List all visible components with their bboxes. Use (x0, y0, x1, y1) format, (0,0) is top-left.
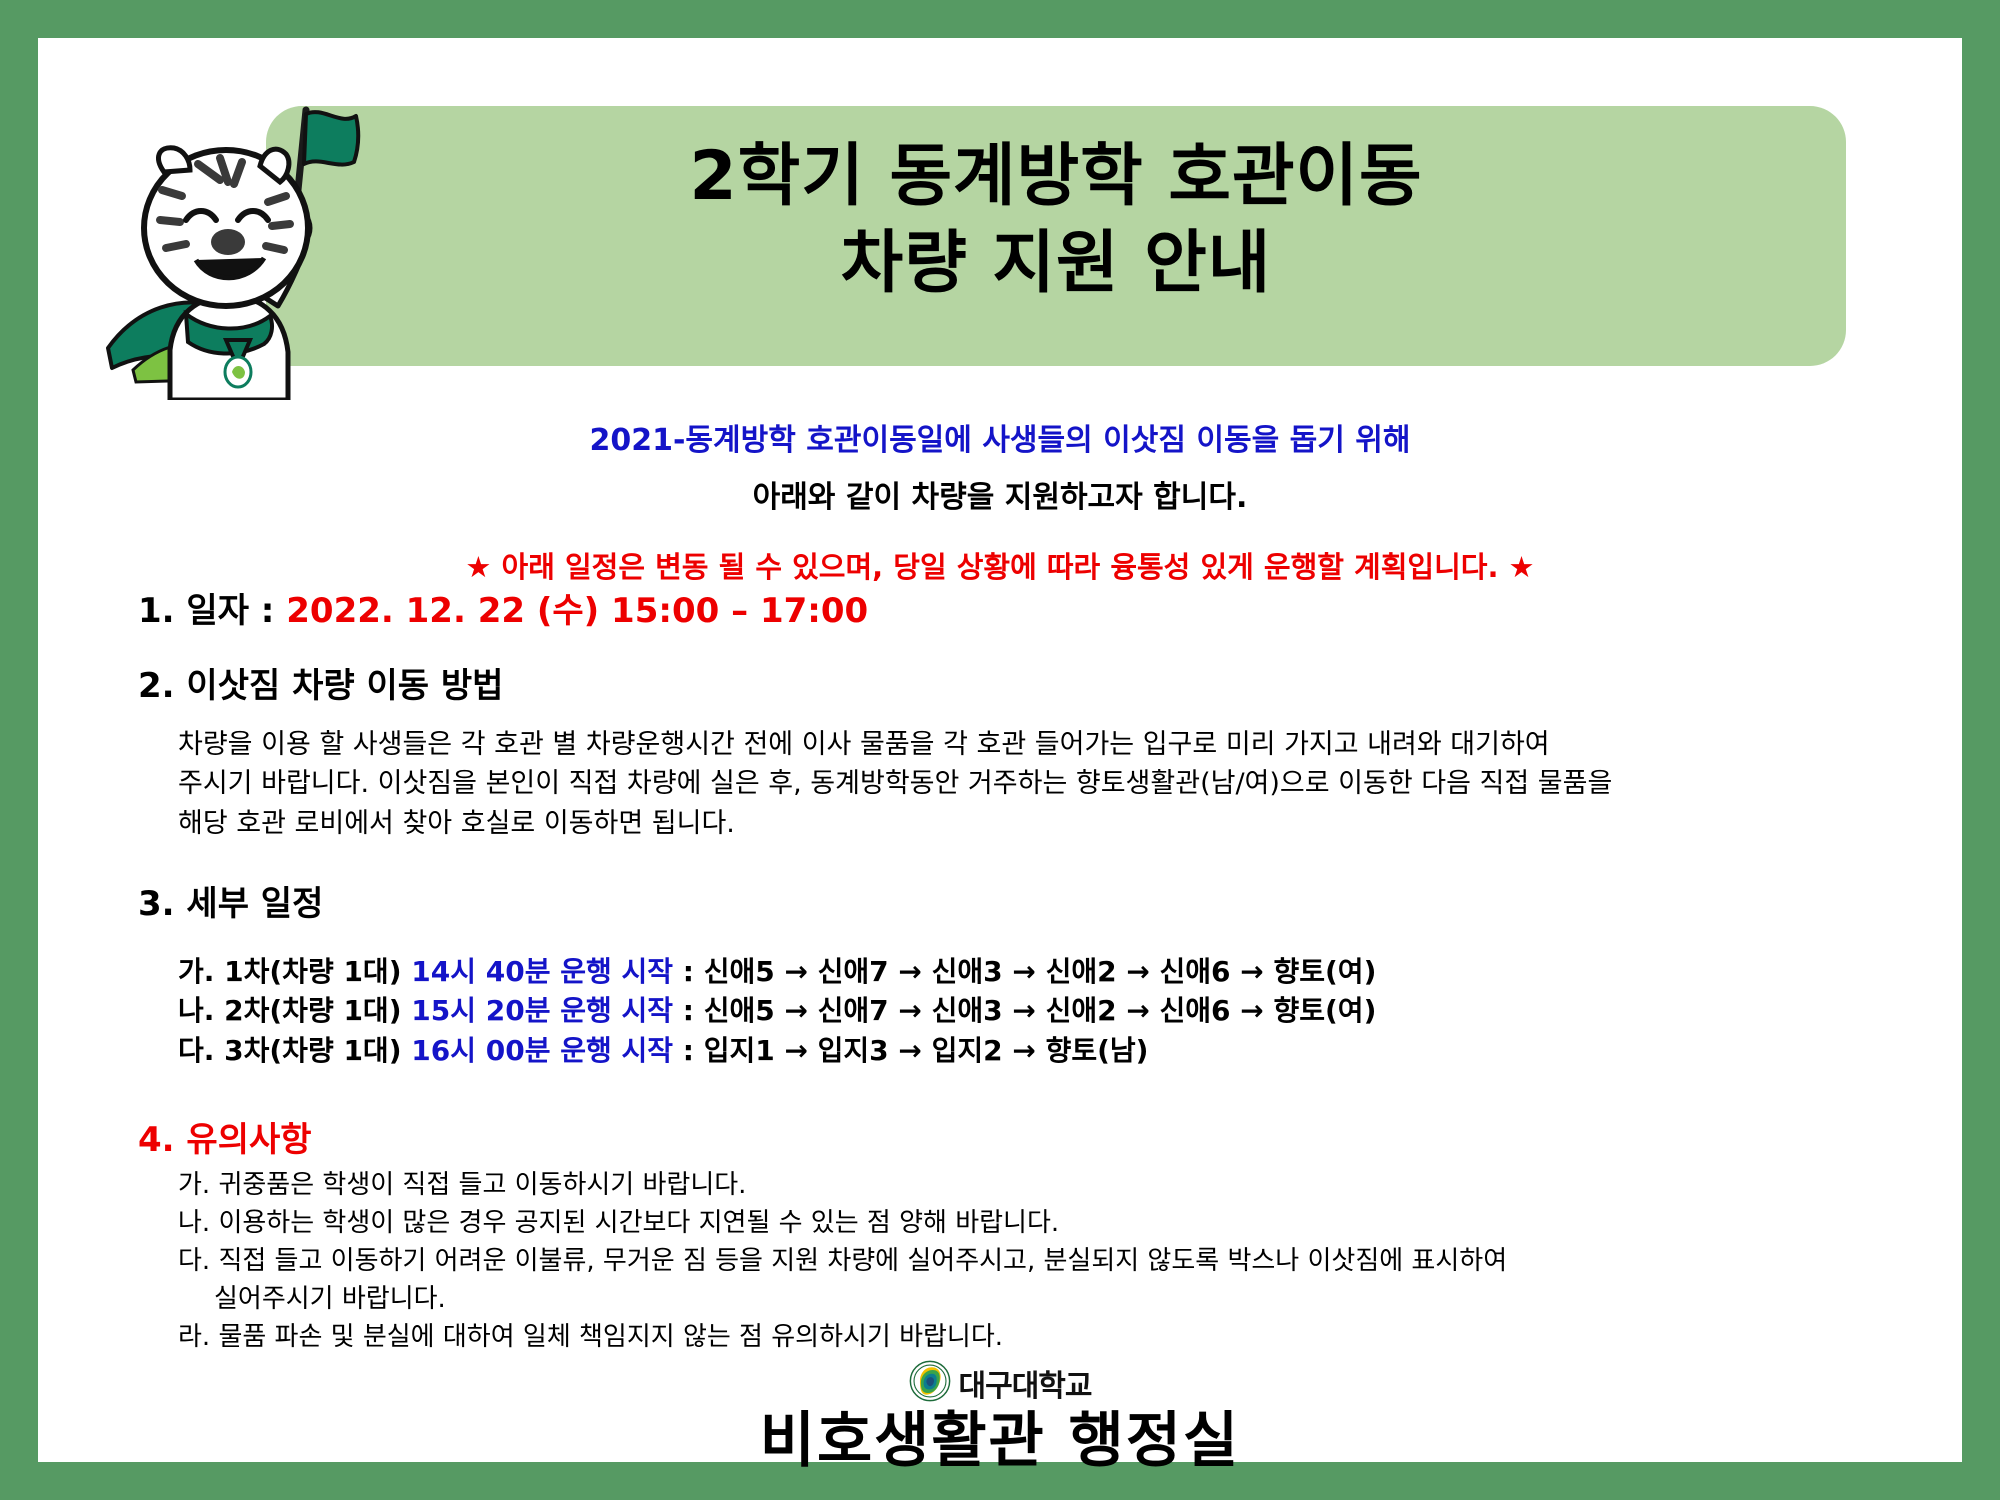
section-3-heading: 3. 세부 일정 (138, 883, 1928, 926)
schedule-row: 다. 3차(차량 1대) 16시 00분 운행 시작 : 입지1 → 입지3 →… (178, 1031, 1928, 1071)
schedule-time: 16시 00분 운행 시작 (411, 1034, 673, 1067)
intro-line-blue: 2021-동계방학 호관이동일에 사생들의 이삿짐 이동을 돕기 위해 (138, 418, 1862, 463)
notes-list: 가. 귀중품은 학생이 직접 들고 이동하시기 바랍니다. 나. 이용하는 학생… (178, 1167, 1928, 1357)
schedule-row: 나. 2차(차량 1대) 15시 20분 운행 시작 : 신애5 → 신애7 →… (178, 991, 1928, 1031)
schedule-route: : 입지1 → 입지3 → 입지2 → 향토(남) (673, 1034, 1148, 1067)
page-title: 2학기 동계방학 호관이동 차량 지원 안내 (266, 133, 1846, 307)
schedule-time: 15시 20분 운행 시작 (411, 994, 673, 1027)
note-item: 라. 물품 파손 및 분실에 대하여 일체 책임지지 않는 점 유의하시기 바랍… (178, 1319, 1928, 1357)
university-name: 대구대학교 (959, 1361, 1092, 1405)
section-2-body-line-2: 주시기 바랍니다. 이삿짐을 본인이 직접 차량에 실은 후, 동계방학동안 거… (178, 764, 1928, 803)
schedule-label: 나. 2차(차량 1대) (178, 994, 411, 1027)
intro-line-black: 아래와 같이 차량을 지원하고자 합니다. (138, 475, 1862, 520)
section-2-body-line-1: 차량을 이용 할 사생들은 각 호관 별 차량운행시간 전에 이사 물품을 각 … (178, 725, 1928, 764)
schedule-row: 가. 1차(차량 1대) 14시 40분 운행 시작 : 신애5 → 신애7 →… (178, 952, 1928, 992)
note-item-continued: 실어주시기 바랍니다. (214, 1281, 1928, 1319)
footer: 대구대학교 비호생활관 행정실 (38, 1360, 1962, 1474)
note-item: 가. 귀중품은 학생이 직접 들고 이동하시기 바랍니다. (178, 1167, 1928, 1205)
section-1-date: 1. 일자 : 2022. 12. 22 (수) 15:00 – 17:00 (138, 590, 1928, 633)
section-1-label: 1. 일자 : (138, 591, 286, 631)
poster-page: 2학기 동계방학 호관이동 차량 지원 안내 2021-동계방학 호관이동일에 … (38, 38, 1962, 1462)
schedule-time: 14시 40분 운행 시작 (411, 955, 673, 988)
note-item: 다. 직접 들고 이동하기 어려운 이불류, 무거운 짐 등을 지원 차량에 실… (178, 1243, 1928, 1281)
content-sections: 1. 일자 : 2022. 12. 22 (수) 15:00 – 17:00 2… (138, 590, 1928, 1357)
schedule-label: 다. 3차(차량 1대) (178, 1034, 411, 1067)
section-2-body: 차량을 이용 할 사생들은 각 호관 별 차량운행시간 전에 이사 물품을 각 … (178, 725, 1928, 843)
daegu-university-seal-logo-icon (909, 1360, 951, 1406)
section-1-value: 2022. 12. 22 (수) 15:00 – 17:00 (286, 591, 868, 631)
schedule-label: 가. 1차(차량 1대) (178, 955, 411, 988)
section-2-heading: 2. 이삿짐 차량 이동 방법 (138, 665, 1928, 708)
intro-block: 2021-동계방학 호관이동일에 사생들의 이삿짐 이동을 돕기 위해 아래와 … (138, 418, 1862, 590)
intro-line-warning: ★ 아래 일정은 변동 될 수 있으며, 당일 상황에 따라 융통성 있게 운행… (138, 546, 1862, 590)
schedule-list: 가. 1차(차량 1대) 14시 40분 운행 시작 : 신애5 → 신애7 →… (178, 952, 1928, 1071)
footer-brand: 대구대학교 (909, 1360, 1092, 1406)
note-item: 나. 이용하는 학생이 많은 경우 공지된 시간보다 지연될 수 있는 점 양해… (178, 1205, 1928, 1243)
section-2-body-line-3: 해당 호관 로비에서 찾아 호실로 이동하면 됩니다. (178, 804, 1928, 843)
schedule-route: : 신애5 → 신애7 → 신애3 → 신애2 → 신애6 → 향토(여) (673, 955, 1376, 988)
office-name: 비호생활관 행정실 (38, 1408, 1962, 1474)
schedule-route: : 신애5 → 신애7 → 신애3 → 신애2 → 신애6 → 향토(여) (673, 994, 1376, 1027)
section-4-heading: 4. 유의사항 (138, 1119, 1928, 1162)
